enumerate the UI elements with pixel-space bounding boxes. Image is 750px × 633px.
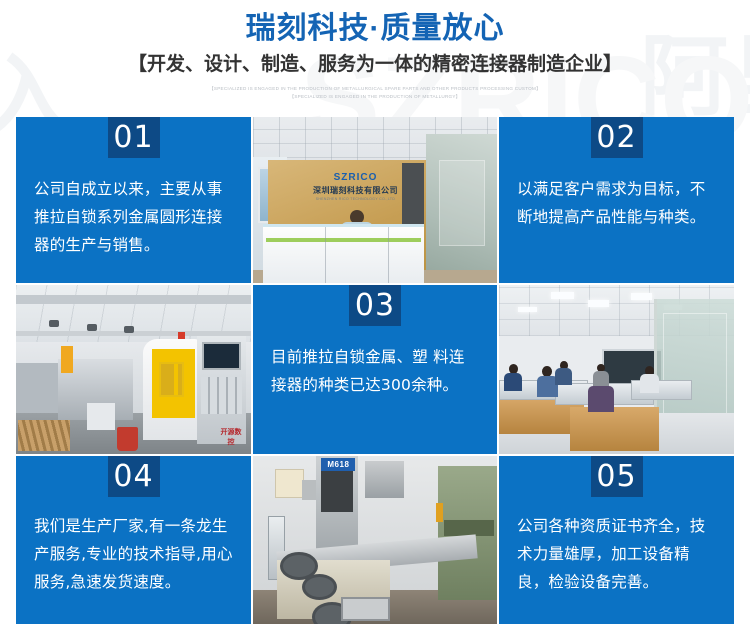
machine-label: M618 [321, 458, 355, 471]
feature-text-03: 目前推拉自锁金属、塑 料连接器的种类已达300余种。 [253, 343, 497, 399]
small-machine-box [87, 403, 115, 430]
badge-03: 03 [349, 285, 401, 326]
reception-office-photo: SZRICO 深圳瑞刻科技有限公司 SHENZHEN RICO TECHNOLO… [253, 117, 497, 283]
oil-bottle [436, 503, 443, 521]
red-bin [117, 427, 138, 451]
english-tagline-2: 【SPECIALIZED IS ENGAGED IN THE PRODUCTIO… [0, 93, 750, 101]
badge-number-01: 01 [113, 123, 153, 153]
ceiling-beam [16, 295, 251, 303]
badge-number-02: 02 [596, 123, 636, 153]
page-header: 瑞刻科技·质量放心 【开发、设计、制造、服务为一体的精密连接器制造企业】 【SP… [0, 0, 750, 113]
feature-cell-01: 01 公司自成立以来，主要从事推拉自锁系列金属圆形连接器的生产与销售。 [16, 117, 251, 283]
english-tagline-block: 【SPECIALIZED IS ENGAGED IN THE PRODUCTIO… [0, 85, 750, 101]
milling-machine-photo: M618 [253, 456, 497, 624]
feature-text-01: 公司自成立以来，主要从事推拉自锁系列金属圆形连接器的生产与销售。 [16, 175, 251, 259]
office-worker [593, 364, 609, 386]
badge-number-04: 04 [113, 462, 153, 492]
logo-english-name: SHENZHEN RICO TECHNOLOGY CO.,LTD [302, 197, 409, 201]
feature-cell-04: 04 我们是生产厂家,有一条龙生产服务,专业的技术指导,用心服务,急速发货速度。 [16, 456, 251, 624]
glass-partition [426, 134, 497, 283]
wall-notice [275, 469, 304, 498]
office-worker [555, 361, 571, 385]
page-subtitle: 【开发、设计、制造、服务为一体的精密连接器制造企业】 [0, 50, 750, 80]
handwheel-icon [302, 574, 337, 600]
company-logo-wall: SZRICO 深圳瑞刻科技有限公司 SHENZHEN RICO TECHNOLO… [302, 172, 409, 201]
english-tagline-1: 【SPECIALIZED IS ENGAGED IN THE PRODUCTIO… [0, 85, 750, 93]
feature-cell-02: 02 以满足客户需求为目标，不断地提高产品性能与种类。 [499, 117, 734, 283]
badge-number-05: 05 [596, 462, 636, 492]
ceiling-light-icon [631, 293, 652, 300]
hanging-lamp-icon [49, 320, 59, 327]
feature-text-05: 公司各种资质证书齐全，技术力量雄厚，加工设备精良，检验设备完善。 [499, 512, 734, 596]
badge-02: 02 [591, 117, 643, 158]
machine-brand-label: 开源数控 [220, 427, 241, 451]
hanging-lamp-icon [124, 326, 134, 333]
promo-page: 入 阿里巴 SZRICO 瑞刻科技·质量放心 【开发、设计、制造、服务为一体的精… [0, 0, 750, 633]
cnc-lathe-main [143, 339, 199, 440]
office-worker [504, 364, 523, 391]
ceiling-light-icon [551, 292, 575, 299]
ceiling-light-icon [518, 307, 537, 312]
logo-chinese-name: 深圳瑞刻科技有限公司 [302, 185, 409, 196]
parts-tray [341, 597, 390, 621]
feature-cell-05: 05 公司各种资质证书齐全，技术力量雄厚，加工设备精良，检验设备完善。 [499, 456, 734, 624]
hanging-lamp-icon [87, 324, 97, 331]
feature-text-02: 以满足客户需求为目标，不断地提高产品性能与种类。 [499, 175, 734, 231]
office-worker [640, 366, 659, 393]
logo-brand-text: SZRICO [302, 172, 409, 183]
badge-01: 01 [108, 117, 160, 158]
desk [570, 407, 659, 451]
badge-number-03: 03 [355, 291, 395, 321]
cnc-workshop-photo: 开源数控 [16, 285, 251, 454]
machine-head [365, 461, 404, 498]
badge-05: 05 [591, 456, 643, 497]
office-workstations-photo [499, 285, 734, 454]
feature-text-04: 我们是生产厂家,有一条龙生产服务,专业的技术指导,用心服务,急速发货速度。 [16, 512, 251, 596]
lathe-far [16, 363, 58, 414]
reception-desk [263, 224, 424, 283]
ceiling-light-icon [588, 300, 609, 307]
green-milling-machine [438, 466, 497, 600]
feature-grid: 01 公司自成立以来，主要从事推拉自锁系列金属圆形连接器的生产与销售。 SZRI… [16, 117, 734, 620]
wood-pile [18, 420, 70, 450]
feature-cell-03: 03 目前推拉自锁金属、塑 料连接器的种类已达300余种。 [253, 285, 497, 454]
page-title: 瑞刻科技·质量放心 [0, 9, 750, 49]
badge-04: 04 [108, 456, 160, 497]
